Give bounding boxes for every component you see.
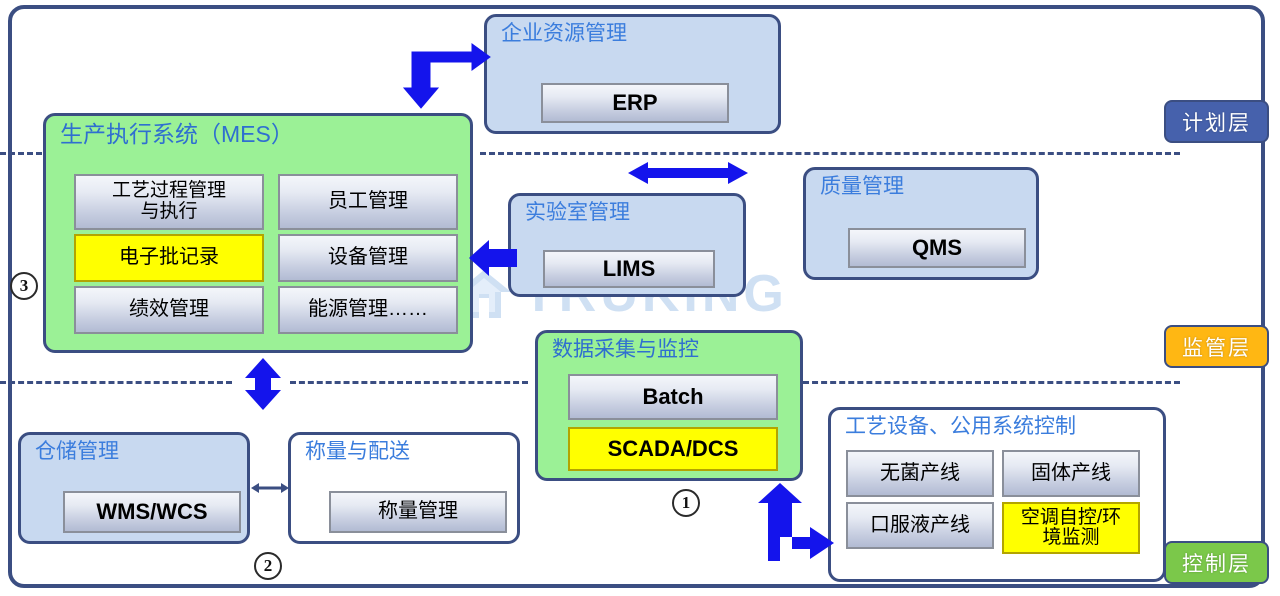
chip-sterile-line[interactable]: 无菌产线 [846, 450, 994, 497]
diagram-canvas: TRUKING 企业资源管理 ERP 生产执行系统（MES） 工艺过程管理 与执… [0, 0, 1280, 596]
marker-2: 2 [254, 552, 282, 580]
badge-plan-layer[interactable]: 计划层 [1164, 100, 1269, 143]
box-weighing-title: 称量与配送 [305, 441, 410, 463]
chip-mes-equipment[interactable]: 设备管理 [278, 234, 458, 282]
chip-lims[interactable]: LIMS [543, 250, 715, 288]
divider-plan-supervision-left [0, 152, 42, 155]
badge-supervision-layer[interactable]: 监管层 [1164, 325, 1269, 368]
divider-supervision-control-a [0, 381, 232, 384]
badge-control-layer[interactable]: 控制层 [1164, 541, 1269, 584]
box-warehouse-title: 仓储管理 [35, 441, 119, 463]
connector-scada-control-arrow [758, 483, 834, 561]
chip-mes-staff[interactable]: 员工管理 [278, 174, 458, 230]
chip-oral-liquid-line[interactable]: 口服液产线 [846, 502, 994, 549]
box-process-control[interactable]: 工艺设备、公用系统控制 无菌产线 固体产线 口服液产线 空调自控/环 境监测 [828, 407, 1166, 582]
connector-lims-mes-arrow [469, 238, 517, 278]
chip-solid-line[interactable]: 固体产线 [1002, 450, 1140, 497]
connector-wms-weighing-arrow [251, 480, 289, 496]
connector-mes-scada-arrow [243, 358, 283, 410]
chip-mes-performance[interactable]: 绩效管理 [74, 286, 264, 334]
chip-scada-dcs[interactable]: SCADA/DCS [568, 427, 778, 471]
chip-wms-wcs[interactable]: WMS/WCS [63, 491, 241, 533]
divider-plan-supervision-mid [480, 152, 1180, 155]
divider-supervision-control-c [803, 381, 1180, 384]
box-data-acquisition[interactable]: 数据采集与监控 Batch SCADA/DCS [535, 330, 803, 481]
chip-mes-process[interactable]: 工艺过程管理 与执行 [74, 174, 264, 230]
chip-qms[interactable]: QMS [848, 228, 1026, 268]
chip-weighing-management[interactable]: 称量管理 [329, 491, 507, 533]
box-lims-title: 实验室管理 [525, 202, 630, 224]
box-warehouse[interactable]: 仓储管理 WMS/WCS [18, 432, 250, 544]
chip-hvac-env-monitoring[interactable]: 空调自控/环 境监测 [1002, 502, 1140, 554]
box-qms[interactable]: 质量管理 QMS [803, 167, 1039, 280]
box-mes-title: 生产执行系统（MES） [60, 122, 294, 146]
box-weighing[interactable]: 称量与配送 称量管理 [288, 432, 520, 544]
box-qms-title: 质量管理 [820, 176, 904, 198]
box-process-control-title: 工艺设备、公用系统控制 [845, 416, 1076, 438]
box-data-acquisition-title: 数据采集与监控 [552, 339, 699, 361]
connector-mes-qms-arrow [628, 160, 748, 186]
box-erp[interactable]: 企业资源管理 ERP [484, 14, 781, 134]
box-mes[interactable]: 生产执行系统（MES） 工艺过程管理 与执行 员工管理 电子批记录 设备管理 绩… [43, 113, 473, 353]
divider-supervision-control-b [290, 381, 528, 384]
connector-erp-mes-arrow [404, 44, 490, 110]
chip-mes-energy[interactable]: 能源管理…… [278, 286, 458, 334]
chip-mes-ebr[interactable]: 电子批记录 [74, 234, 264, 282]
chip-batch[interactable]: Batch [568, 374, 778, 420]
marker-3: 3 [10, 272, 38, 300]
box-erp-title: 企业资源管理 [501, 23, 627, 45]
chip-erp[interactable]: ERP [541, 83, 729, 123]
box-lims[interactable]: 实验室管理 LIMS [508, 193, 746, 297]
marker-1: 1 [672, 489, 700, 517]
